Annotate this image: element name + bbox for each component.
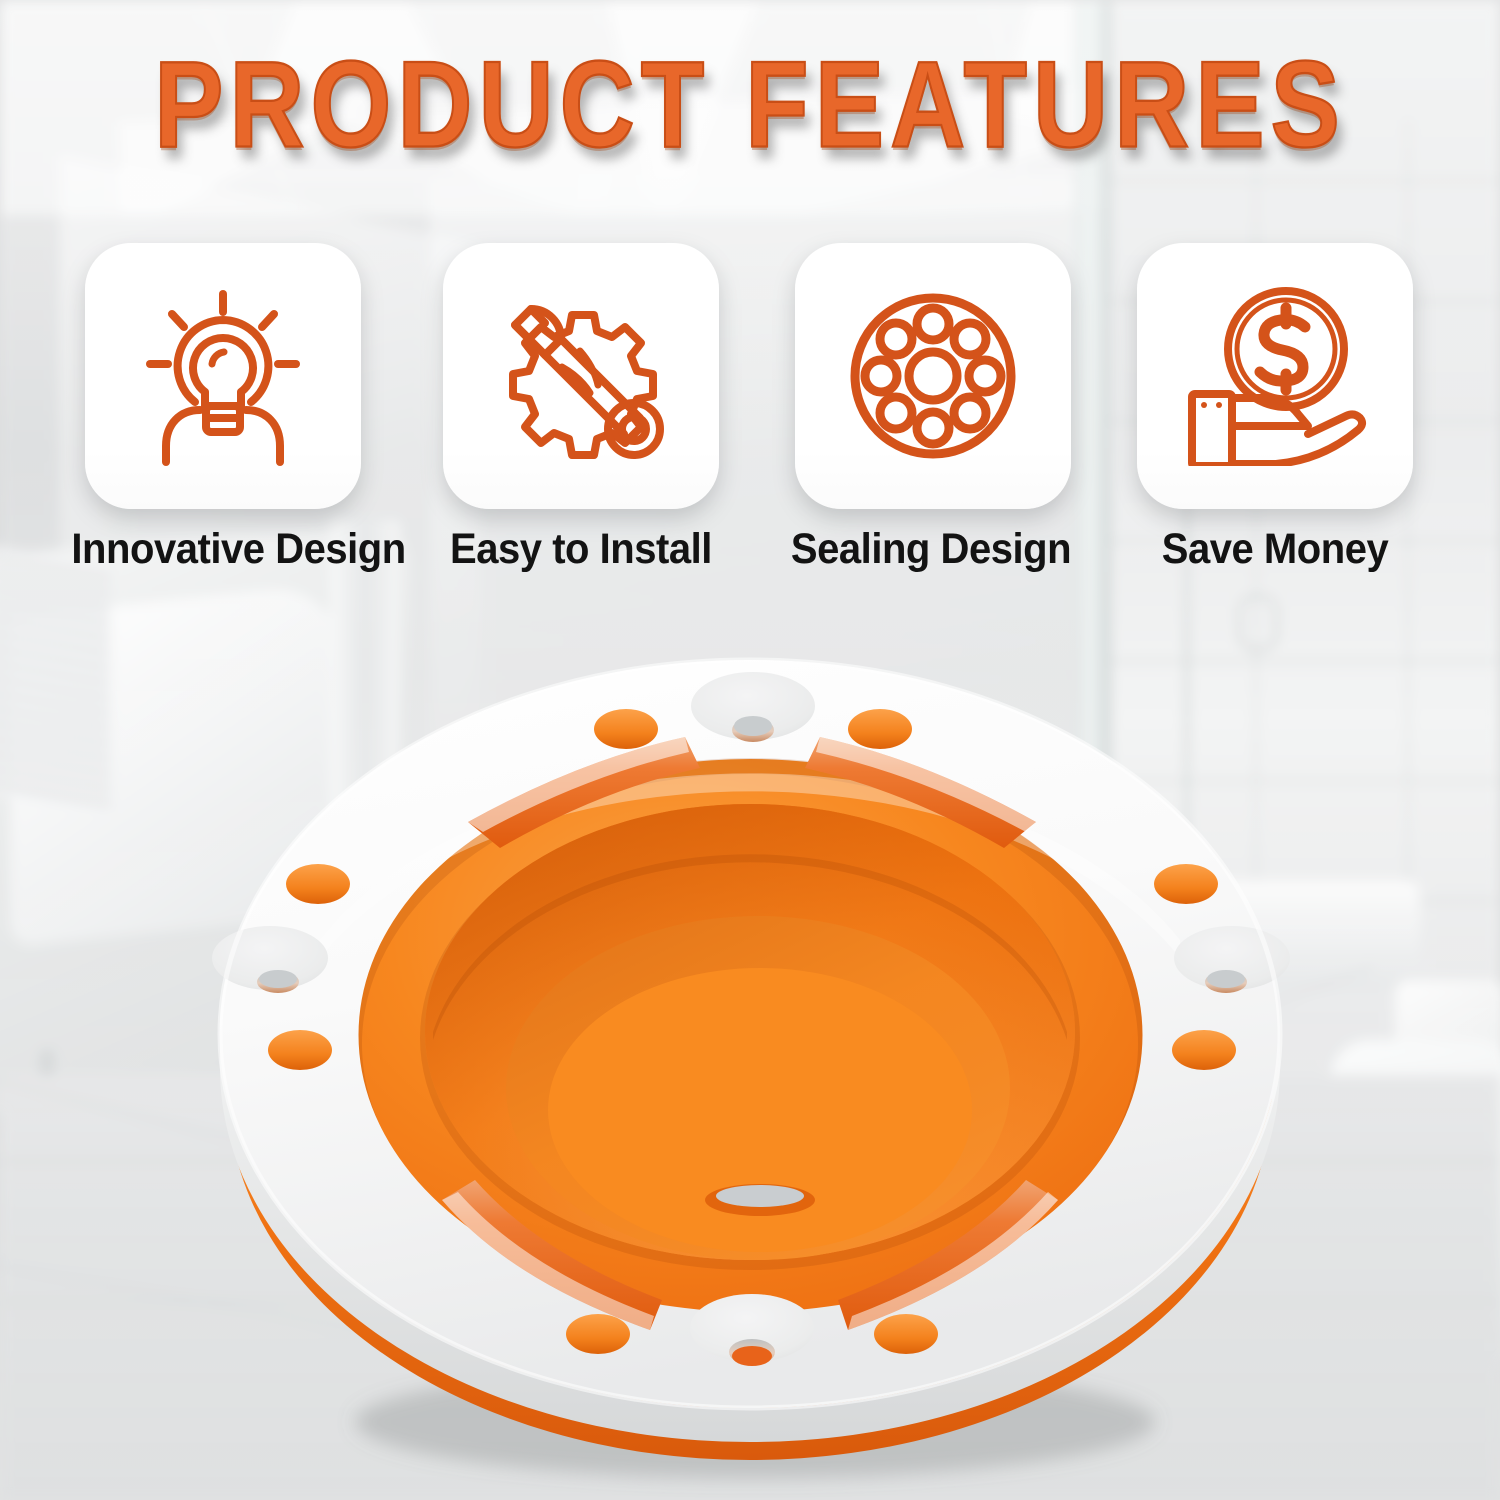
toilet-flange-illustration	[180, 640, 1320, 1500]
flange-cone-interior	[425, 804, 1075, 1260]
product-feature-graphic: PRODUCT FEATURES	[0, 0, 1500, 1500]
feature-label-save-money: Save Money	[1133, 525, 1418, 574]
feature-label-row: Innovative Design Easy to Install Sealin…	[0, 525, 1500, 585]
feature-card-sealing-design[interactable]	[795, 243, 1071, 509]
feature-card-easy-to-install[interactable]	[443, 243, 719, 509]
feature-label-innovative-design: Innovative Design	[71, 525, 374, 574]
product-image-toilet-flange	[180, 640, 1320, 1500]
feature-card-save-money[interactable]	[1137, 243, 1413, 509]
lightbulb-person-icon	[128, 286, 318, 466]
feature-label-sealing-design: Sealing Design	[789, 525, 1074, 574]
seal-gasket-icon	[843, 286, 1023, 466]
page-title: PRODUCT FEATURES	[0, 44, 1500, 167]
coin-in-hand-icon	[1178, 286, 1373, 466]
feature-card-innovative-design[interactable]	[85, 243, 361, 509]
feature-card-row	[0, 243, 1500, 513]
feature-label-easy-to-install: Easy to Install	[439, 525, 724, 574]
wrench-gear-icon	[484, 281, 679, 471]
